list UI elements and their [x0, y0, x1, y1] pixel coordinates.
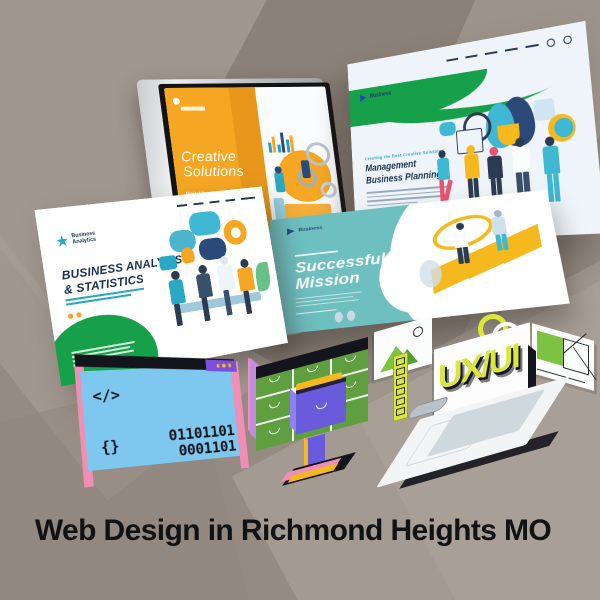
chat-bubble [439, 121, 456, 137]
logo-arrow-icon [287, 228, 295, 236]
person-head [300, 154, 307, 160]
poster-canvas: Creative Solutions Digital Development &… [0, 0, 600, 600]
code-brace-icon: {} [100, 437, 120, 457]
card-successful-mission: Business Successful Mission [268, 196, 558, 324]
person-head [274, 166, 282, 173]
tool-icon[interactable] [396, 397, 405, 407]
drawer-handle[interactable] [269, 402, 280, 410]
tool-icon[interactable] [396, 407, 405, 417]
creative-heading-line2: Solutions [182, 163, 245, 178]
logo-arrow-icon [360, 94, 367, 102]
drawer-handle[interactable] [345, 381, 356, 389]
tool-icon[interactable] [396, 357, 405, 367]
person-figure [167, 270, 193, 328]
wireframe-placeholder-icon [563, 338, 589, 375]
drawer-handle[interactable] [269, 428, 280, 436]
tool-icon[interactable] [396, 367, 405, 377]
card-surface: Business Successful Mission [269, 189, 569, 335]
sparkle-icon [56, 235, 69, 248]
page-title: Web Design in Richmond Heights MO [0, 514, 600, 548]
card-logo: Business Analytics [55, 231, 96, 248]
card-dots[interactable] [68, 312, 82, 319]
code-window-illustration: </> {} 01101101 0001101 [84, 358, 244, 470]
uxui-laptop-illustration: UX/UI [382, 318, 582, 490]
code-window-plane: </> {} 01101101 0001101 [79, 356, 243, 479]
bulb-icon [180, 247, 195, 264]
person-figure [194, 264, 220, 323]
page-title-text: Web Design in Richmond Heights MO [35, 514, 551, 548]
file-cabinet-illustration [252, 344, 384, 480]
page-indicator[interactable] [335, 310, 356, 323]
wireframe-block [537, 331, 563, 366]
logo-text-line2: Analytics [72, 237, 96, 246]
logo-text: Business Analytics [71, 231, 96, 247]
creative-heading-line1: Creative [180, 149, 243, 164]
drawer-handle[interactable] [269, 376, 280, 384]
binary-text: 01101101 0001101 [168, 422, 237, 461]
play-bubble [159, 255, 178, 271]
code-window-screen: </> {} 01101101 0001101 [80, 364, 243, 471]
sun-icon [413, 325, 423, 338]
creative-logo [172, 98, 209, 105]
tool-palette[interactable] [393, 352, 408, 422]
binary-line-2: 0001101 [169, 438, 237, 461]
meeting-illustration [137, 203, 285, 357]
mission-illustration [400, 198, 565, 315]
drawer-handle[interactable] [345, 355, 356, 363]
window-controls[interactable] [216, 363, 231, 367]
tool-icon[interactable] [396, 387, 405, 397]
drawer-handle[interactable] [316, 402, 327, 410]
tool-icon[interactable] [396, 377, 405, 387]
drawer-handle[interactable] [307, 365, 318, 373]
code-tag-icon: </> [92, 386, 121, 406]
bar-chart-icon [266, 131, 295, 153]
card-business-analysis: Business Analytics BUSINESS ANALYSIS & S… [48, 196, 288, 364]
creative-heading: Creative Solutions [180, 149, 245, 179]
